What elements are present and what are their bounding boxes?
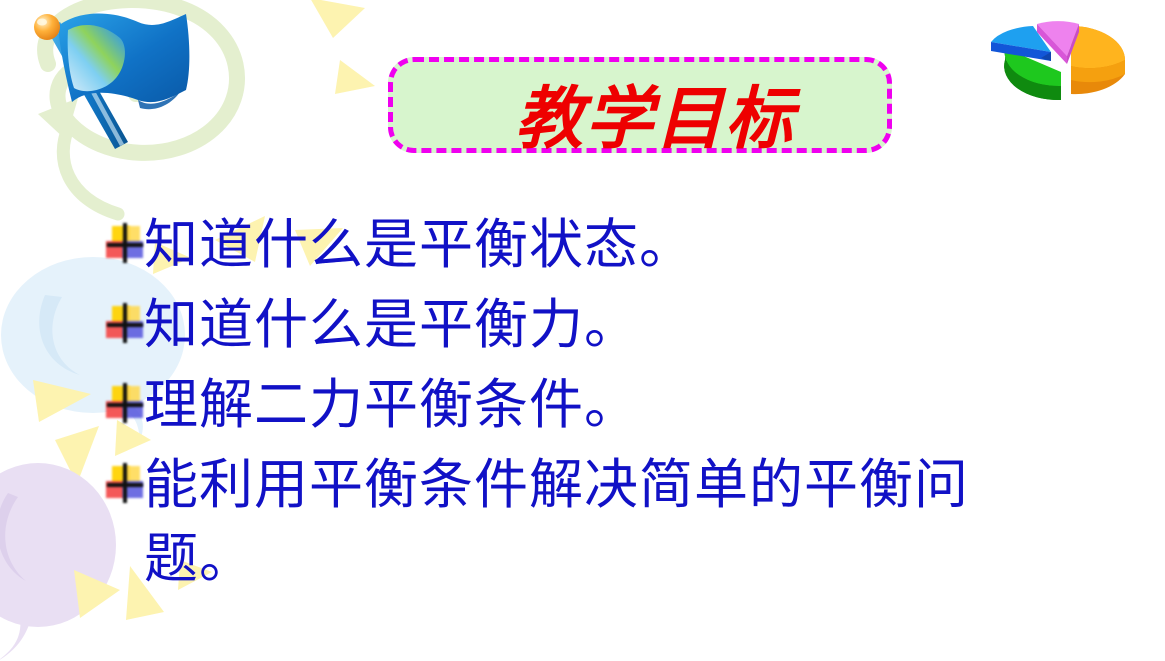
colored-plus-bullet-icon [104, 464, 144, 504]
list-item-label: 知道什么是平衡力。 [144, 288, 639, 362]
list-item: 知道什么是平衡力。 [104, 288, 1104, 362]
pie-chart-icon [975, 8, 1155, 108]
colored-plus-bullet-icon [104, 304, 144, 344]
green-swirl-decoration [8, 0, 258, 224]
list-item: 知道什么是平衡状态。 [104, 208, 1104, 282]
list-item: 理解二力平衡条件。 [104, 368, 1104, 442]
list-item-label: 能利用平衡条件解决简单的平衡问题。 [144, 448, 994, 596]
colored-plus-bullet-icon [104, 384, 144, 424]
colored-plus-bullet-icon [104, 224, 144, 264]
list-item: 能利用平衡条件解决简单的平衡问题。 [104, 448, 1104, 596]
list-item-label: 知道什么是平衡状态。 [144, 208, 694, 282]
objectives-list: 知道什么是平衡状态。 知道什么是平衡力。 理解二力平衡条件。 能利用平衡条件解决… [104, 208, 1104, 602]
page-title: 教学目标 [388, 57, 892, 167]
waving-flag-icon [20, 8, 205, 163]
list-item-label: 理解二力平衡条件。 [144, 368, 639, 442]
presentation-slide: 教学目标 知道什么是平衡状态。 知道什么是平衡力。 理解二力平衡条件。 [0, 0, 1165, 661]
